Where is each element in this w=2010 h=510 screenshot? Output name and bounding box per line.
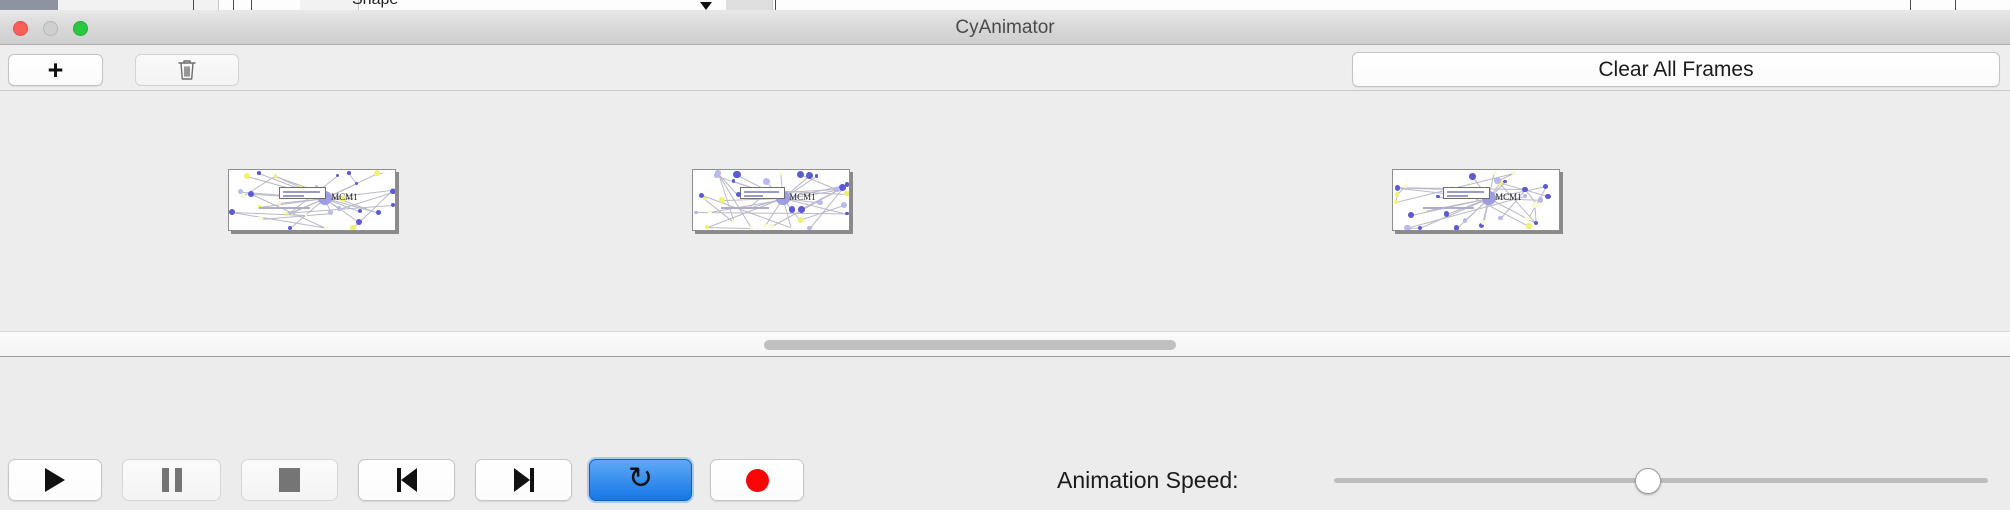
bg-tab xyxy=(178,0,219,10)
network-node xyxy=(807,226,812,230)
bg-divider xyxy=(193,0,194,10)
network-node xyxy=(715,170,720,175)
annotation-line xyxy=(744,195,763,197)
network-node xyxy=(248,191,254,197)
delete-frame-button[interactable] xyxy=(135,54,239,86)
network-node xyxy=(1523,194,1527,198)
bg-divider xyxy=(1910,0,1911,10)
network-node xyxy=(376,210,381,215)
network-node xyxy=(845,212,848,215)
network-node xyxy=(790,227,793,230)
loop-icon: ↻ xyxy=(628,464,653,494)
slider-track xyxy=(1334,478,1988,483)
network-node xyxy=(797,171,804,178)
bg-tab xyxy=(300,0,359,10)
play-button[interactable] xyxy=(8,459,102,501)
network-node xyxy=(257,171,261,175)
title-bar[interactable]: CyAnimator xyxy=(0,10,2010,45)
network-node xyxy=(277,201,281,205)
annotation-line xyxy=(1447,195,1467,197)
timeline-panel[interactable]: MCM1MCM1MCM1 2131415161718 Seconds xyxy=(0,91,2010,331)
network-node xyxy=(350,225,355,230)
network-node xyxy=(229,209,235,215)
network-node-label: MCM1 xyxy=(331,192,358,202)
frame-thumbnail[interactable]: MCM1 xyxy=(1392,169,1560,231)
network-node xyxy=(1395,185,1401,191)
network-node xyxy=(1463,218,1467,222)
network-node xyxy=(1503,180,1506,183)
network-node xyxy=(1492,171,1497,176)
network-node xyxy=(815,174,818,177)
network-node xyxy=(1498,216,1503,221)
bg-window-label: Shape xyxy=(352,0,398,9)
network-node xyxy=(1526,223,1532,229)
network-node xyxy=(328,210,333,215)
clear-all-frames-button[interactable]: Clear All Frames xyxy=(1352,52,2000,87)
network-node xyxy=(305,214,308,217)
record-icon xyxy=(746,469,769,492)
timeline-scrollbar[interactable] xyxy=(0,331,2010,357)
cyanimator-window: Shape CyAnimator + Clear All Frames MCM1… xyxy=(0,0,2010,510)
plus-icon: + xyxy=(48,57,64,84)
network-node xyxy=(789,206,795,212)
skip-forward-button[interactable] xyxy=(475,459,572,501)
network-node xyxy=(347,171,351,175)
animation-speed-slider[interactable] xyxy=(1334,459,1988,501)
network-node xyxy=(1418,226,1422,230)
network-node xyxy=(374,170,380,176)
network-node xyxy=(288,226,292,230)
pause-button[interactable] xyxy=(122,459,221,501)
network-annotation-box xyxy=(740,187,784,199)
skip-backward-icon xyxy=(397,468,417,492)
network-node xyxy=(244,173,250,179)
network-node xyxy=(841,202,848,209)
network-node xyxy=(1532,202,1537,207)
annotation-line xyxy=(721,207,768,209)
network-node xyxy=(732,220,735,223)
network-node xyxy=(806,172,813,179)
skip-forward-icon xyxy=(514,468,534,492)
network-node xyxy=(798,206,805,213)
network-node xyxy=(391,203,395,207)
playback-control-bar: ↻ Animation Speed: xyxy=(0,357,2010,510)
network-node xyxy=(733,171,740,178)
network-node xyxy=(798,217,803,222)
play-icon xyxy=(45,468,65,492)
bg-tab xyxy=(726,0,773,10)
annotation-line xyxy=(283,195,303,197)
network-node xyxy=(769,224,774,229)
record-button[interactable] xyxy=(710,459,804,501)
network-node xyxy=(356,219,362,225)
network-node xyxy=(817,200,823,206)
scrollbar-thumb[interactable] xyxy=(764,340,1176,350)
network-node xyxy=(1545,194,1550,199)
network-node xyxy=(1436,195,1440,199)
loop-button[interactable]: ↻ xyxy=(589,459,692,501)
network-node xyxy=(694,211,697,214)
network-node xyxy=(274,174,277,177)
network-node-label: MCM1 xyxy=(789,192,816,202)
network-node xyxy=(1403,184,1407,188)
annotation-line xyxy=(1447,191,1484,193)
network-node xyxy=(1534,221,1538,225)
network-node xyxy=(336,174,339,177)
network-node xyxy=(1512,171,1515,174)
frame-toolbar: + Clear All Frames xyxy=(0,45,2010,91)
network-node xyxy=(1543,184,1548,189)
network-node xyxy=(1494,177,1501,184)
add-frame-button[interactable]: + xyxy=(8,54,103,86)
network-node xyxy=(390,189,395,195)
annotation-line xyxy=(744,191,779,193)
network-node xyxy=(1404,225,1411,230)
bg-divider xyxy=(775,0,776,10)
network-node xyxy=(750,226,753,229)
network-node xyxy=(1538,197,1544,203)
network-node xyxy=(241,194,245,198)
network-node xyxy=(1454,225,1459,230)
clear-all-frames-label: Clear All Frames xyxy=(1598,58,1753,82)
network-annotation-box xyxy=(279,187,326,199)
network-node xyxy=(1444,211,1450,217)
frame-thumbnail[interactable]: MCM1 xyxy=(228,169,396,231)
network-node-label: MCM1 xyxy=(1495,192,1522,202)
annotation-line xyxy=(1423,207,1473,209)
pause-icon xyxy=(162,468,182,492)
network-node xyxy=(1522,187,1527,192)
trash-icon xyxy=(176,58,198,82)
bg-divider xyxy=(1955,0,1956,10)
network-node xyxy=(763,224,768,229)
network-node xyxy=(1408,212,1414,218)
annotation-line xyxy=(259,207,309,209)
stop-icon xyxy=(279,468,300,492)
network-node xyxy=(763,178,770,185)
window-title: CyAnimator xyxy=(0,10,2010,45)
network-node xyxy=(258,216,263,221)
network-edge xyxy=(707,227,751,229)
bg-tab xyxy=(58,0,179,10)
network-node xyxy=(355,182,358,185)
network-node xyxy=(708,210,712,214)
network-node xyxy=(1395,192,1400,197)
network-node xyxy=(705,225,709,229)
bg-tab-selected xyxy=(0,0,59,10)
bg-divider xyxy=(233,0,234,10)
bg-divider xyxy=(251,0,252,10)
stop-button[interactable] xyxy=(241,459,338,501)
network-annotation-box xyxy=(1443,187,1490,199)
frame-thumbnail[interactable]: MCM1 xyxy=(692,169,850,231)
bg-caret-icon xyxy=(700,2,712,10)
network-node xyxy=(844,191,849,196)
annotation-line xyxy=(283,191,320,193)
network-node xyxy=(1481,220,1486,225)
network-node xyxy=(1394,200,1398,204)
skip-backward-button[interactable] xyxy=(358,459,455,501)
network-node xyxy=(324,226,328,230)
network-node xyxy=(1469,173,1475,179)
animation-speed-label: Animation Speed: xyxy=(1057,459,1239,501)
network-node xyxy=(382,172,385,175)
network-node xyxy=(358,209,362,213)
slider-thumb[interactable] xyxy=(1635,468,1661,494)
network-node xyxy=(732,179,736,183)
network-node xyxy=(779,171,784,176)
